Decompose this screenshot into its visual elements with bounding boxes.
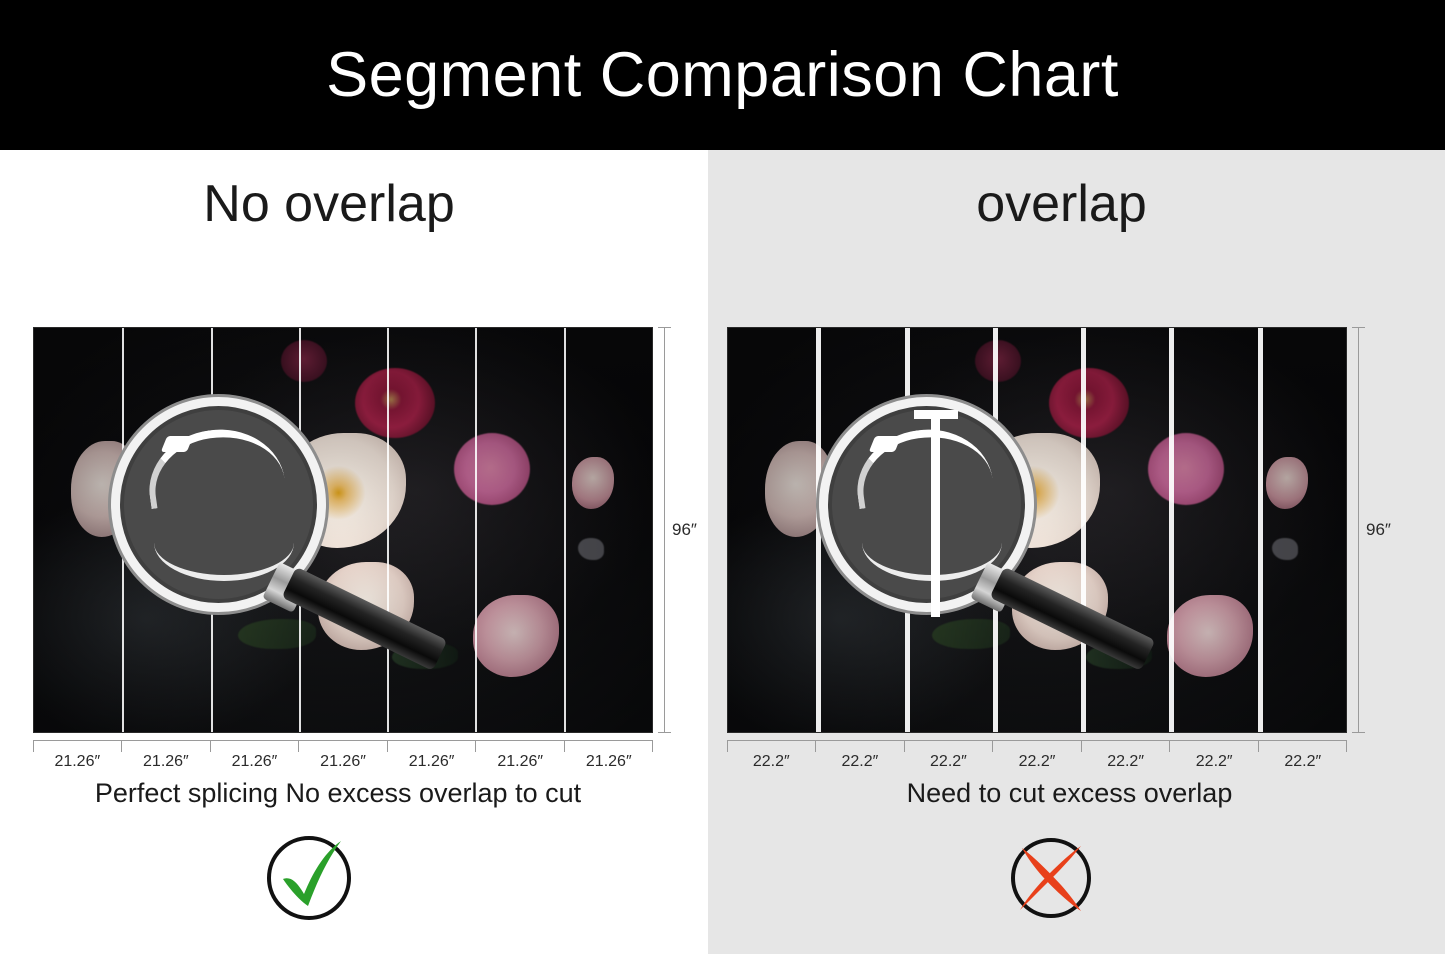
dimension-ticks	[727, 740, 1347, 752]
petal-fallen	[1272, 538, 1298, 560]
flower-bud-pink	[1266, 457, 1308, 509]
flower-dahlia-crimson	[1049, 368, 1129, 438]
dimension-tick	[727, 740, 815, 752]
flower-peony-pink	[895, 461, 1003, 559]
dimension-tick	[298, 740, 386, 752]
segment-seam-overlap	[905, 328, 910, 732]
segment-width-label: 21.26″	[564, 753, 653, 771]
dimension-line	[664, 327, 665, 733]
leaf-dark-green-2	[392, 643, 458, 669]
dimension-tick	[1081, 740, 1169, 752]
segment-width-label: 22.2″	[816, 753, 905, 771]
segment-width-label: 22.2″	[1170, 753, 1259, 771]
page-title: Segment Comparison Chart	[326, 39, 1119, 111]
segment-width-label: 22.2″	[993, 753, 1082, 771]
dimension-tick	[33, 740, 121, 752]
segment-seam	[475, 328, 477, 732]
segment-seam	[122, 328, 124, 732]
leaf-dark-green	[932, 619, 1010, 649]
segment-width-labels: 21.26″ 21.26″ 21.26″ 21.26″ 21.26″ 21.26…	[33, 753, 653, 771]
dimension-tick	[387, 740, 475, 752]
flower-peony-pink	[201, 461, 309, 559]
flower-chrysanthemum-pink	[1148, 433, 1224, 505]
panel-heading-overlap: overlap	[708, 174, 1445, 234]
segment-comparison-page: Segment Comparison Chart No overlap	[0, 0, 1445, 954]
floral-mural-image	[33, 327, 653, 733]
panel-no-overlap: No overlap	[0, 150, 708, 954]
segment-width-label: 22.2″	[727, 753, 816, 771]
dimension-line	[1358, 327, 1359, 733]
panel-heading-no-overlap: No overlap	[0, 174, 708, 234]
panel-overlap: overlap	[708, 150, 1445, 954]
segment-seam-overlap	[993, 328, 998, 732]
segment-width-label: 21.26″	[476, 753, 565, 771]
dimension-cap-bottom	[658, 732, 671, 733]
segment-width-label: 21.26″	[122, 753, 211, 771]
segment-width-label: 22.2″	[1258, 753, 1347, 771]
leaf-dark-green	[238, 619, 316, 649]
flower-rose-blush	[473, 595, 559, 677]
segment-width-label: 21.26″	[387, 753, 476, 771]
segment-seam-overlap	[1081, 328, 1086, 732]
dimension-cap-top	[658, 327, 671, 328]
petal-fallen	[578, 538, 604, 560]
segment-seam-overlap	[816, 328, 821, 732]
segment-seam-overlap	[1258, 328, 1263, 732]
flower-rose-maroon	[281, 340, 327, 382]
dimension-tick	[815, 740, 903, 752]
flower-bud-pink	[572, 457, 614, 509]
caption-no-overlap: Perfect splicing No excess overlap to cu…	[0, 778, 708, 809]
title-banner: Segment Comparison Chart	[0, 0, 1445, 150]
segment-seam	[564, 328, 566, 732]
segment-seam	[299, 328, 301, 732]
segment-seam	[387, 328, 389, 732]
height-label: 96″	[672, 520, 697, 540]
leaf-dark-green-2	[1086, 643, 1152, 669]
dimension-tick	[1258, 740, 1347, 752]
flower-dahlia-crimson	[355, 368, 435, 438]
flower-rose-blush	[1167, 595, 1253, 677]
segment-seam	[211, 328, 213, 732]
dimension-tick	[1169, 740, 1257, 752]
segment-seam-overlap	[1169, 328, 1174, 732]
dimension-tick	[904, 740, 992, 752]
flower-tulip-pale	[71, 441, 139, 537]
segment-width-labels: 22.2″ 22.2″ 22.2″ 22.2″ 22.2″ 22.2″ 22.2…	[727, 753, 1347, 771]
flower-chrysanthemum-pink	[454, 433, 530, 505]
mural-preview-overlap: 96″	[727, 327, 1347, 733]
dimension-ticks	[33, 740, 653, 752]
green-check-icon	[263, 832, 355, 924]
red-cross-icon	[1005, 832, 1097, 924]
segment-width-label: 21.26″	[299, 753, 388, 771]
height-label: 96″	[1366, 520, 1391, 540]
floral-mural-image	[727, 327, 1347, 733]
dimension-cap-bottom	[1352, 732, 1365, 733]
dimension-tick	[992, 740, 1080, 752]
dimension-tick	[564, 740, 653, 752]
flower-magnolia-cream	[318, 562, 414, 650]
comparison-panels: No overlap	[0, 150, 1445, 954]
dimension-cap-top	[1352, 327, 1365, 328]
segment-width-label: 22.2″	[904, 753, 993, 771]
dimension-tick	[475, 740, 563, 752]
segment-width-label: 21.26″	[33, 753, 122, 771]
segment-width-label: 22.2″	[1081, 753, 1170, 771]
segment-width-label: 21.26″	[210, 753, 299, 771]
caption-overlap: Need to cut excess overlap	[708, 778, 1445, 809]
dimension-tick	[121, 740, 209, 752]
segment-dimensions-overlap: 22.2″ 22.2″ 22.2″ 22.2″ 22.2″ 22.2″ 22.2…	[727, 740, 1347, 782]
flower-magnolia-cream	[1012, 562, 1108, 650]
flower-tulip-pale	[765, 441, 833, 537]
flower-rose-maroon	[975, 340, 1021, 382]
segment-dimensions-no-overlap: 21.26″ 21.26″ 21.26″ 21.26″ 21.26″ 21.26…	[33, 740, 653, 782]
mural-preview-no-overlap: 96″	[33, 327, 653, 733]
dimension-tick	[210, 740, 298, 752]
